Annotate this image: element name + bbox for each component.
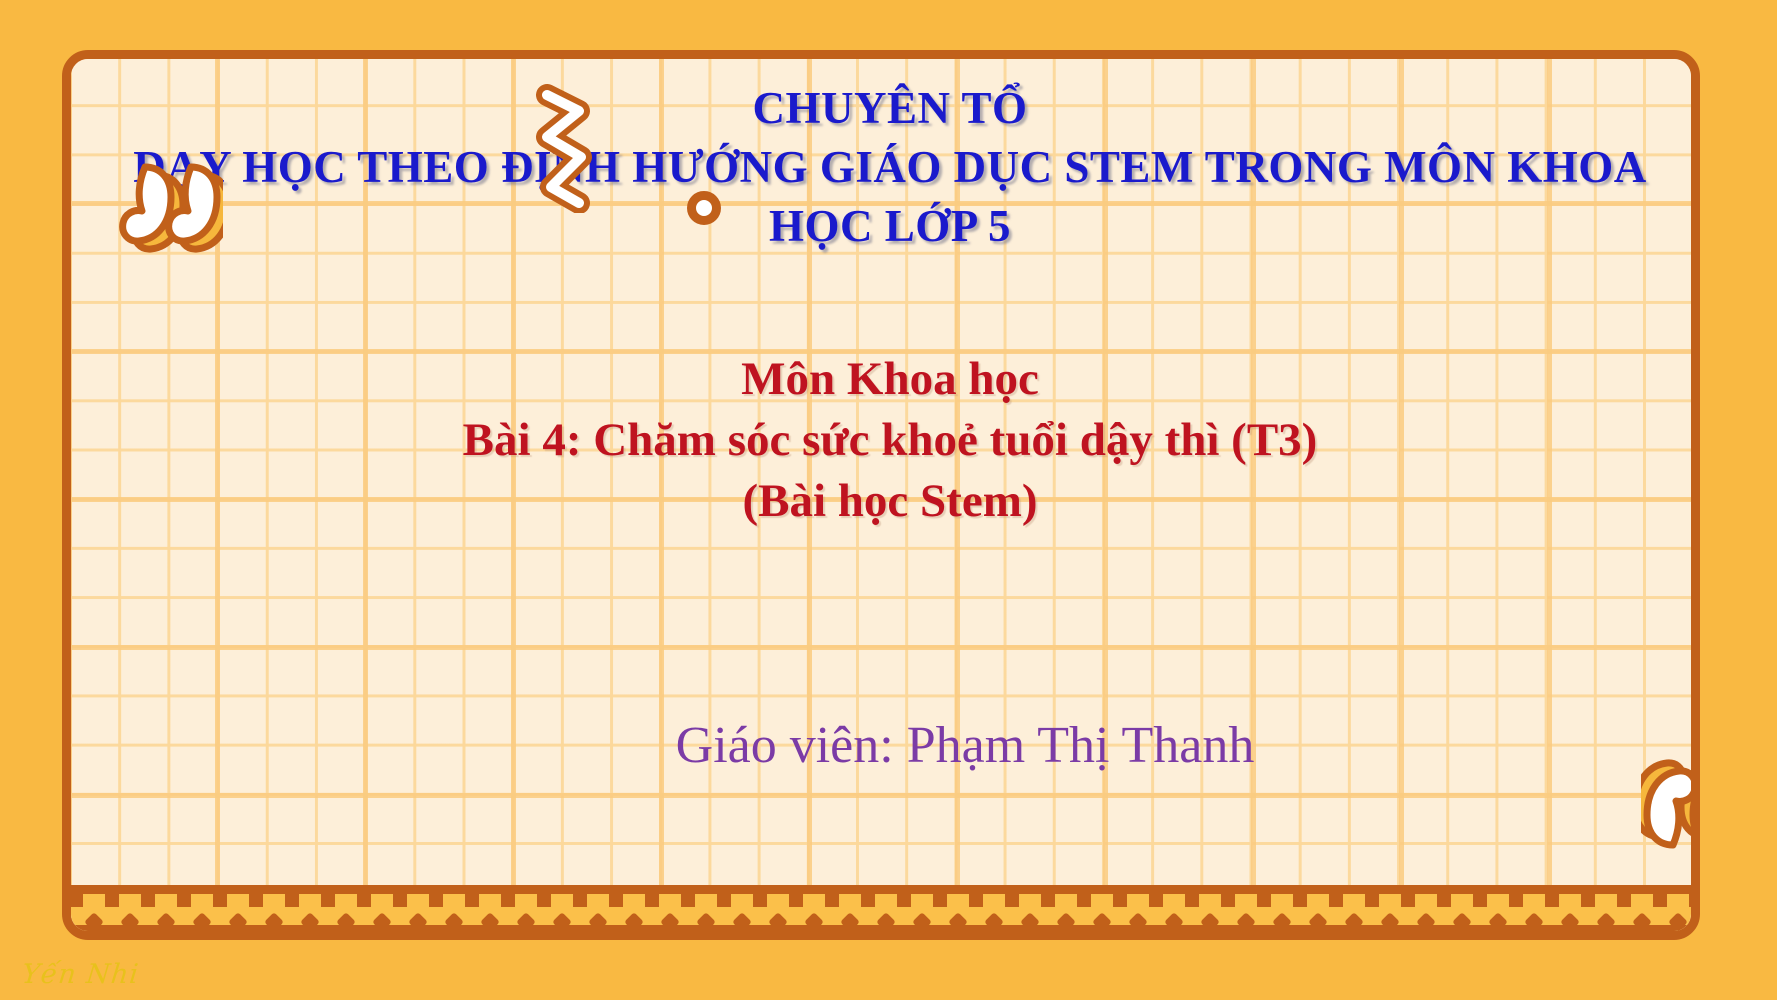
teacher-name: Giáo viên: Phạm Thị Thanh bbox=[71, 714, 1700, 778]
lesson-subject-title: Môn Khoa học Bài 4: Chăm sóc sức khoẻ tu… bbox=[111, 349, 1669, 532]
band-bottom-line bbox=[69, 925, 1693, 933]
page-title: CHUYÊN TỔ DẠY HỌC THEO ĐỊNH HƯỚNG GIÁO D… bbox=[111, 79, 1669, 256]
slide-frame: CHUYÊN TỔ DẠY HỌC THEO ĐỊNH HƯỚNG GIÁO D… bbox=[62, 50, 1700, 940]
slide-canvas: CHUYÊN TỔ DẠY HỌC THEO ĐỊNH HƯỚNG GIÁO D… bbox=[0, 0, 1777, 1000]
watermark-label: Yến Nhi bbox=[20, 959, 140, 990]
slide-content: CHUYÊN TỔ DẠY HỌC THEO ĐỊNH HƯỚNG GIÁO D… bbox=[71, 59, 1700, 940]
band-notch-pattern bbox=[69, 894, 1693, 907]
bottom-decorative-band bbox=[69, 885, 1693, 933]
